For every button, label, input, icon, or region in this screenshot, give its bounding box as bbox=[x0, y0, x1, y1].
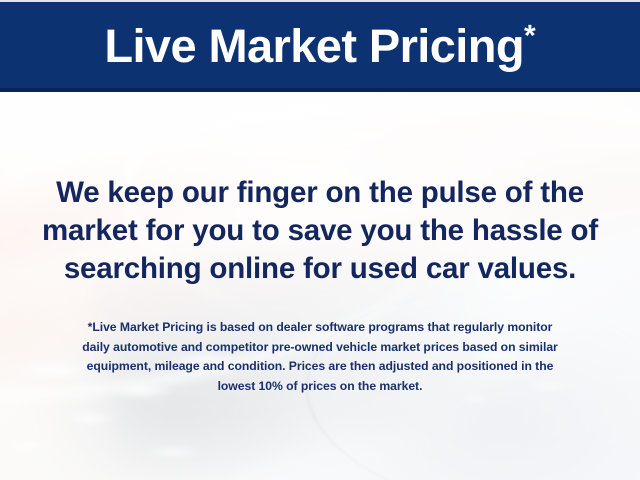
disclaimer-line-3: equipment, mileage and condition. Prices… bbox=[28, 357, 612, 377]
content-area: We keep our finger on the pulse of the m… bbox=[0, 92, 640, 480]
page-title-text: Live Market Pricing bbox=[104, 19, 524, 72]
page-title: Live Market Pricing* bbox=[104, 22, 535, 71]
headline-line-1: We keep our finger on the pulse of the bbox=[22, 174, 618, 212]
header-band: Live Market Pricing* bbox=[0, 0, 640, 92]
live-market-pricing-banner: Live Market Pricing* We keep our finger … bbox=[0, 0, 640, 480]
header-top-rule bbox=[0, 0, 640, 2]
disclaimer-text: *Live Market Pricing is based on dealer … bbox=[28, 318, 612, 396]
headline: We keep our finger on the pulse of the m… bbox=[22, 174, 618, 288]
disclaimer-line-4: lowest 10% of prices on the market. bbox=[28, 377, 612, 397]
footnote-asterisk: * bbox=[524, 19, 536, 52]
headline-line-2: market for you to save you the hassle of bbox=[22, 212, 618, 250]
header-bottom-rule bbox=[0, 88, 640, 92]
headline-line-3: searching online for used car values. bbox=[22, 250, 618, 288]
disclaimer-line-1: *Live Market Pricing is based on dealer … bbox=[28, 318, 612, 338]
disclaimer-line-2: daily automotive and competitor pre-owne… bbox=[28, 338, 612, 358]
